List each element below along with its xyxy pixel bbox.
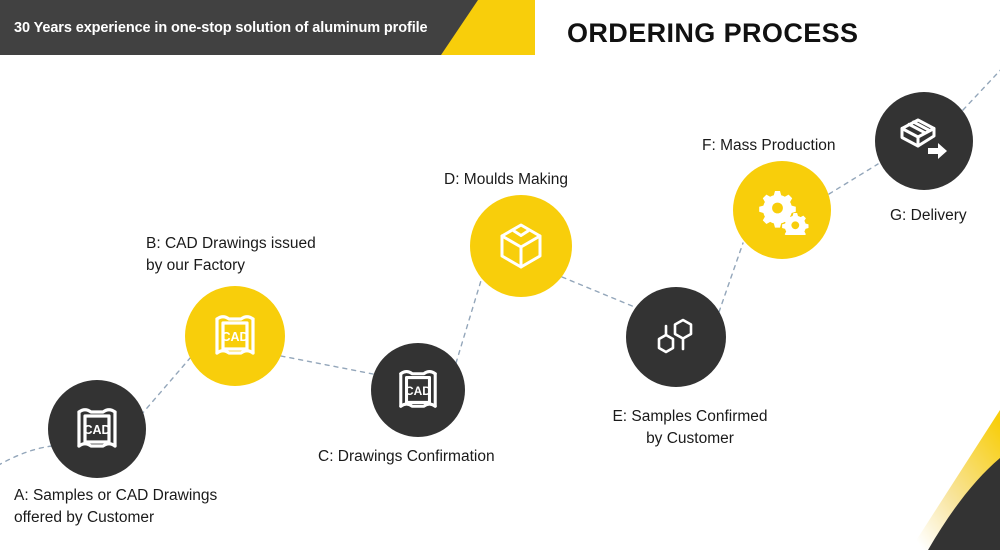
arrow-right-icon xyxy=(928,143,947,159)
connector-b-c xyxy=(281,356,373,374)
node-b-circle[interactable]: CAD xyxy=(185,286,285,386)
connector-e-f xyxy=(719,243,743,312)
page-title: ORDERING PROCESS xyxy=(567,18,858,49)
node-d-label: D: Moulds Making xyxy=(444,169,684,191)
cad-blueprint-icon: CAD xyxy=(209,313,261,359)
node-f-circle[interactable] xyxy=(733,161,831,259)
node-d-circle[interactable] xyxy=(470,195,572,297)
node-a-circle[interactable]: CAD xyxy=(48,380,146,478)
node-g-circle[interactable] xyxy=(875,92,973,190)
header-tagline: 30 Years experience in one-stop solution… xyxy=(14,20,428,36)
package-delivery-icon xyxy=(897,116,951,166)
node-c-label: C: Drawings Confirmation xyxy=(318,446,578,468)
cad-blueprint-icon: CAD xyxy=(71,406,123,452)
infographic-canvas: 30 Years experience in one-stop solution… xyxy=(0,0,1000,550)
node-e-circle[interactable] xyxy=(626,287,726,387)
connector-c-d xyxy=(456,274,483,363)
node-b-label: B: CAD Drawings issued by our Factory xyxy=(146,233,406,277)
connector-post-g xyxy=(963,62,1000,110)
cad-blueprint-icon: CAD xyxy=(393,368,443,412)
connector-d-e xyxy=(562,277,637,308)
node-c-circle[interactable]: CAD xyxy=(371,343,465,437)
connector-a-b xyxy=(141,357,191,415)
connector-pre-a xyxy=(0,446,52,470)
molecule-hexagon-icon xyxy=(652,312,700,362)
cad-icon-text: CAD xyxy=(405,384,431,398)
cube-box-icon xyxy=(497,221,545,271)
corner-decoration xyxy=(880,400,1000,550)
cad-icon-text: CAD xyxy=(221,330,248,344)
node-e-label: E: Samples Confirmed by Customer xyxy=(595,406,785,450)
node-g-label: G: Delivery xyxy=(890,205,1000,227)
connector-f-g xyxy=(829,164,878,194)
gears-icon xyxy=(755,185,809,235)
node-a-label: A: Samples or CAD Drawings offered by Cu… xyxy=(14,485,284,529)
cad-icon-text: CAD xyxy=(83,423,110,437)
